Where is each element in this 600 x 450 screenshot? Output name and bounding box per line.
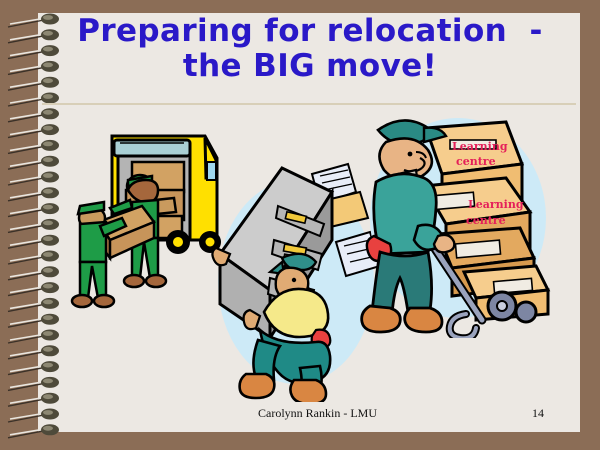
box-label-1-line1: Learning xyxy=(452,140,508,153)
footer-page-number: 14 xyxy=(532,406,544,421)
title-line-1: Preparing for relocation - xyxy=(60,14,560,49)
slide-footer: Carolynn Rankin - LMU 14 xyxy=(38,403,580,427)
clipart-row: Learning centre Learning centre xyxy=(38,108,580,398)
title-line-2: the BIG move! xyxy=(60,49,560,84)
box-label-2-line1: Learning xyxy=(468,198,524,211)
footer-author: Carolynn Rankin - LMU xyxy=(258,406,377,421)
title-divider-rule xyxy=(42,103,576,105)
slide-canvas: Preparing for relocation - the BIG move! xyxy=(0,0,600,450)
clipart-movers-loading-truck xyxy=(70,118,230,318)
box-label-2-line2: centre xyxy=(466,214,506,227)
page-title: Preparing for relocation - the BIG move! xyxy=(60,14,560,84)
clipart-mover-with-handtruck: Learning centre Learning centre xyxy=(354,108,554,338)
box-label-1-line2: centre xyxy=(456,155,496,168)
